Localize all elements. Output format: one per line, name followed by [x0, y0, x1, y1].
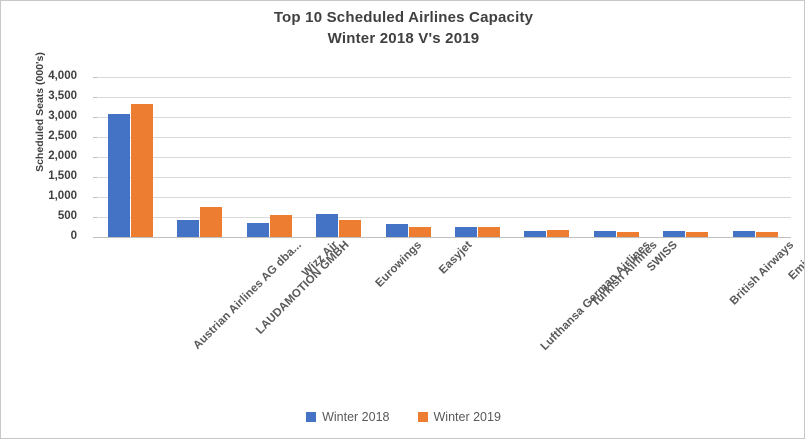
bar[interactable] — [455, 227, 477, 237]
bar[interactable] — [594, 231, 616, 237]
plot-area: 4,0003,5003,0002,5002,0001,5001,0005000 — [97, 77, 791, 237]
y-axis-tick-label: 1,500 — [17, 171, 77, 182]
bar[interactable] — [524, 231, 546, 237]
bar[interactable] — [686, 232, 708, 237]
y-axis-tick-label: 2,500 — [17, 131, 77, 142]
bar[interactable] — [756, 232, 778, 237]
y-axis-tick-label: 2,000 — [17, 151, 77, 162]
bar-group — [305, 77, 374, 237]
x-axis-category-label: LAUDAMOTION GMBH — [254, 239, 352, 337]
bar-group — [444, 77, 513, 237]
legend-swatch-icon — [418, 412, 428, 422]
bar-group — [652, 77, 721, 237]
y-axis-tick-label: 500 — [17, 211, 77, 222]
bar-group — [97, 77, 166, 237]
bar[interactable] — [131, 104, 153, 237]
bar-group — [236, 77, 305, 237]
bar[interactable] — [108, 114, 130, 237]
bar[interactable] — [270, 215, 292, 237]
chart-container: Top 10 Scheduled Airlines Capacity Winte… — [0, 0, 805, 439]
bar[interactable] — [733, 231, 755, 237]
y-axis-tick-label: 3,000 — [17, 111, 77, 122]
chart-title-line-2: Winter 2018 V's 2019 — [1, 28, 805, 49]
bar[interactable] — [316, 214, 338, 237]
bar[interactable] — [177, 220, 199, 237]
legend-item[interactable]: Winter 2018 — [306, 410, 389, 424]
bar[interactable] — [247, 223, 269, 237]
bar[interactable] — [478, 227, 500, 237]
legend-label: Winter 2018 — [322, 410, 389, 424]
chart-title: Top 10 Scheduled Airlines Capacity Winte… — [1, 7, 805, 49]
x-axis-line — [97, 237, 791, 238]
legend-swatch-icon — [306, 412, 316, 422]
y-axis-tick-mark — [93, 237, 97, 238]
bar[interactable] — [617, 232, 639, 237]
x-axis-category-label: Turkish Airlines — [590, 239, 660, 309]
y-axis-tick-label: 1,000 — [17, 191, 77, 202]
y-axis-tick-label: 4,000 — [17, 71, 77, 82]
bar[interactable] — [663, 231, 685, 237]
x-axis-category-label: Easyjet — [437, 239, 474, 276]
bar[interactable] — [200, 207, 222, 237]
bar[interactable] — [409, 227, 431, 237]
legend-label: Winter 2019 — [434, 410, 501, 424]
legend-item[interactable]: Winter 2019 — [418, 410, 501, 424]
bar[interactable] — [547, 230, 569, 237]
bar-group — [375, 77, 444, 237]
bar[interactable] — [386, 224, 408, 237]
bar-group — [583, 77, 652, 237]
x-axis-category-labels: Austrian Airlines AG dba...LAUDAMOTION G… — [97, 239, 791, 389]
bar-group — [166, 77, 235, 237]
x-axis-category-label: Eurowings — [373, 239, 424, 290]
bar-group — [513, 77, 582, 237]
chart-legend: Winter 2018Winter 2019 — [1, 410, 805, 424]
chart-title-line-1: Top 10 Scheduled Airlines Capacity — [274, 9, 533, 26]
y-axis-tick-label: 3,500 — [17, 91, 77, 102]
bar[interactable] — [339, 220, 361, 237]
bar-group — [722, 77, 791, 237]
y-axis-tick-label: 0 — [17, 231, 77, 242]
